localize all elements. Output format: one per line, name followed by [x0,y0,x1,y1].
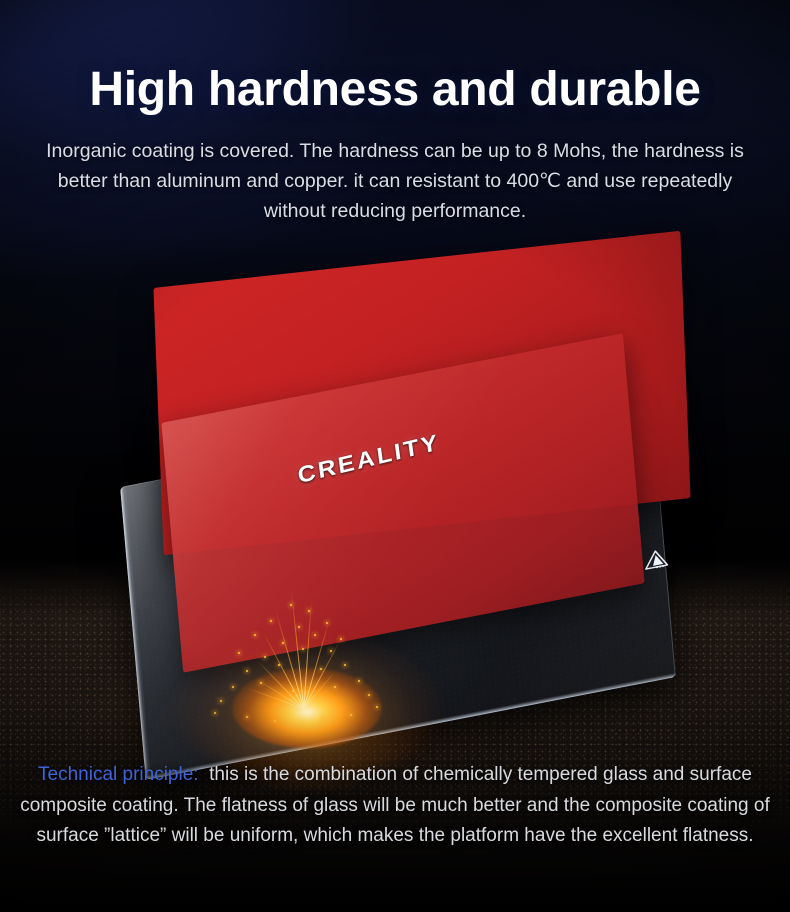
product-scene: CREALITY [0,230,790,750]
product-feature-banner: CREALITY [0,0,790,912]
technical-principle-spacer [199,764,210,785]
subtitle-text: Inorganic coating is covered. The hardne… [40,136,750,226]
page-title: High hardness and durable [0,62,790,117]
technical-principle-paragraph: Technical principle: this is the combina… [20,760,770,852]
technical-principle-label: Technical principle: [38,764,199,785]
